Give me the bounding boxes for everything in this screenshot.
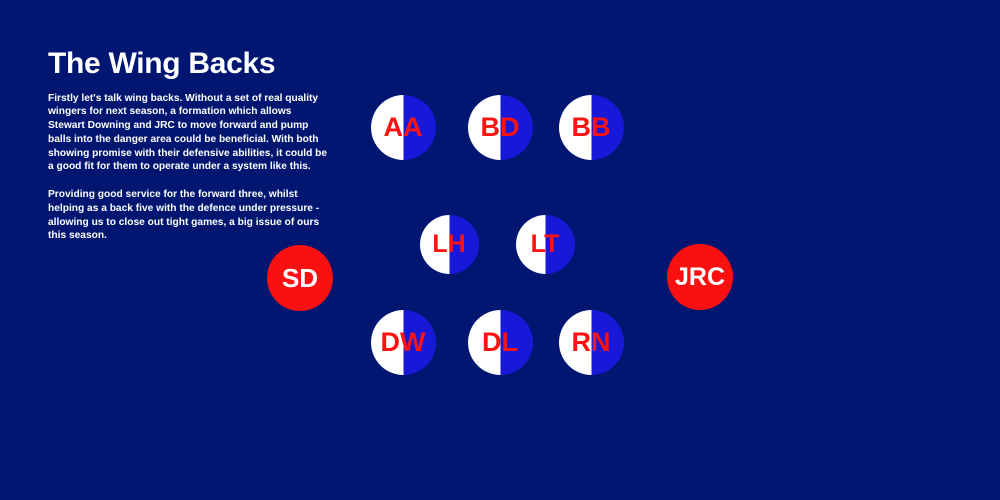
player-token-jrc[interactable]: JRC: [667, 244, 733, 310]
player-token-label: LT: [531, 232, 560, 257]
player-token-sd[interactable]: SD: [267, 245, 333, 311]
player-token-lt[interactable]: LT: [516, 215, 575, 274]
player-token-dw[interactable]: DW: [371, 310, 436, 375]
secondary-paragraph: Providing good service for the forward t…: [48, 188, 330, 243]
text-panel: The Wing Backs Firstly let's talk wing b…: [48, 48, 330, 243]
player-token-bd[interactable]: BD: [468, 95, 533, 160]
formation-board: The Wing Backs Firstly let's talk wing b…: [0, 0, 1000, 500]
player-token-label: SD: [282, 265, 318, 291]
player-token-dl[interactable]: DL: [468, 310, 533, 375]
player-token-label: DW: [381, 329, 426, 356]
player-token-lh[interactable]: LH: [420, 215, 479, 274]
player-token-label: JRC: [675, 265, 725, 290]
player-token-rn[interactable]: RN: [559, 310, 624, 375]
page-title: The Wing Backs: [48, 48, 330, 80]
player-token-label: BD: [481, 114, 520, 141]
player-token-aa[interactable]: AA: [371, 95, 436, 160]
player-token-label: BB: [572, 114, 611, 141]
player-token-label: RN: [572, 329, 611, 356]
player-token-label: DL: [482, 329, 518, 356]
intro-paragraph: Firstly let's talk wing backs. Without a…: [48, 92, 330, 175]
player-token-label: LH: [432, 232, 465, 257]
player-token-label: AA: [384, 114, 423, 141]
player-token-bb[interactable]: BB: [559, 95, 624, 160]
